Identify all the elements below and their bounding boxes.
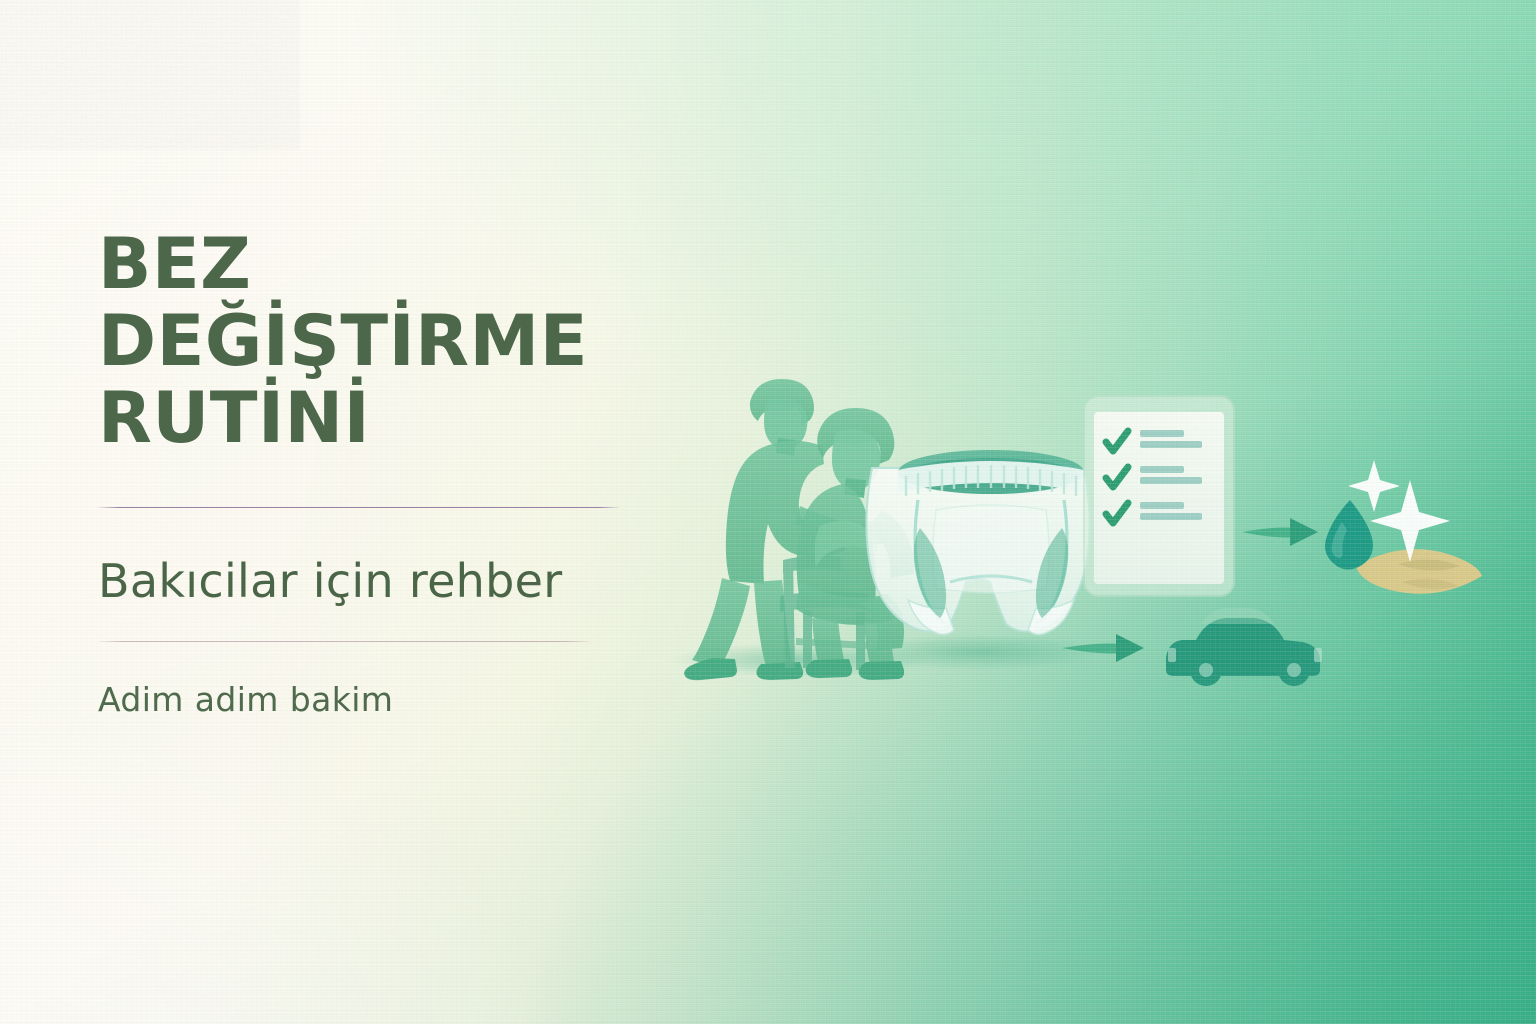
page-subtitle: Bakıcilar için rehber: [98, 556, 738, 607]
divider-bottom: [98, 641, 590, 642]
page-title: BEZ DEĞİŞTİRME RUTİNİ: [98, 226, 738, 457]
page-tagline: Adim adim bakim: [98, 680, 738, 719]
title-text-block: BEZ DEĞİŞTİRME RUTİNİ Bakıcilar için reh…: [98, 226, 738, 719]
divider-top: [98, 507, 619, 508]
slide-canvas: BEZ DEĞİŞTİRME RUTİNİ Bakıcilar için reh…: [0, 0, 1536, 1024]
page-title-line-1: BEZ DEĞİŞTİRME: [98, 226, 738, 380]
page-title-line-2: RUTİNİ: [98, 380, 738, 457]
